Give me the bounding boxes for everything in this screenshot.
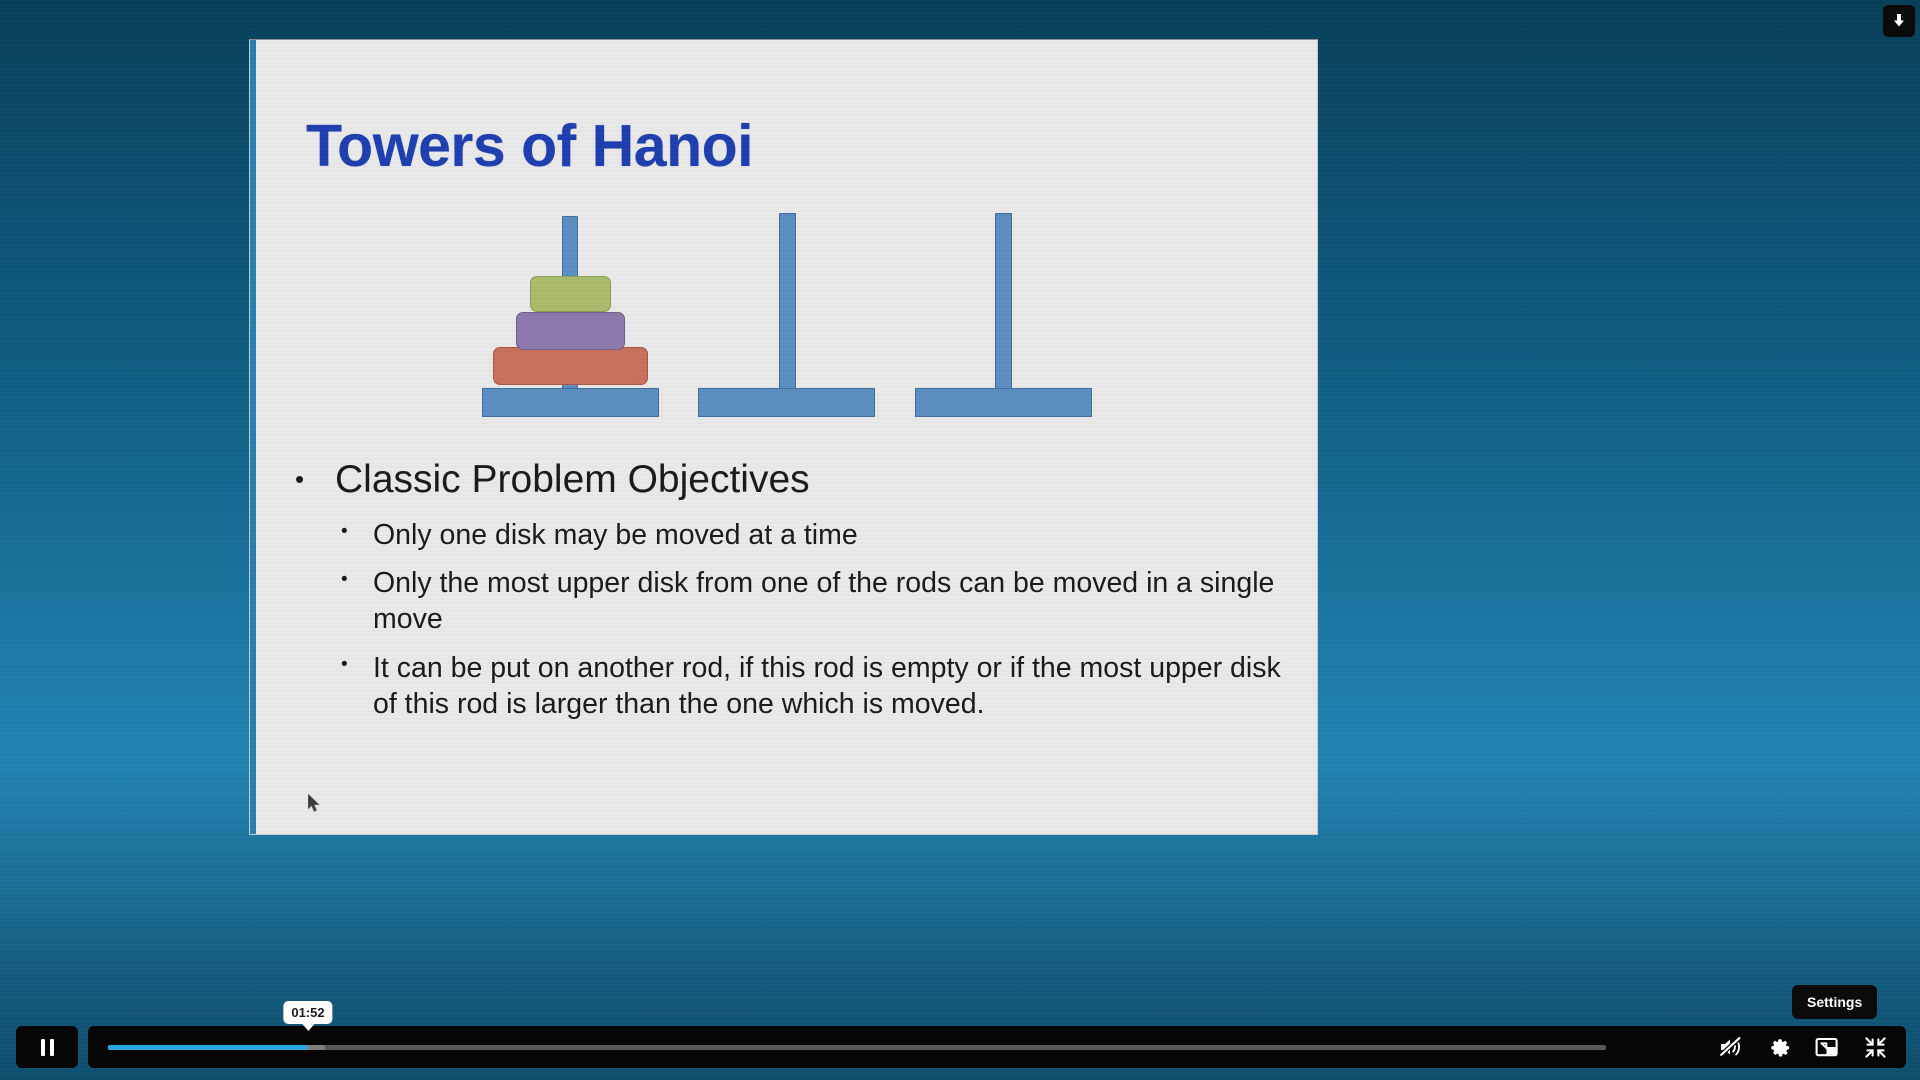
- progress-played: [108, 1045, 307, 1050]
- bullet-sub-3-text: It can be put on another rod, if this ro…: [373, 650, 1305, 722]
- bullet-sub-1: • Only one disk may be moved at a time: [341, 517, 1305, 553]
- control-bar-panel: 01:52: [88, 1026, 1906, 1068]
- bullet-main: • Classic Problem Objectives: [295, 460, 1305, 501]
- exit-fullscreen-icon[interactable]: [1862, 1034, 1888, 1060]
- bullet-dot-icon: •: [341, 565, 373, 594]
- bullet-main-text: Classic Problem Objectives: [335, 460, 810, 501]
- bullet-dot-icon: •: [295, 460, 335, 499]
- download-arrow-icon: [1890, 12, 1908, 30]
- rod-2-base: [698, 388, 875, 417]
- bullet-sub-3: • It can be put on another rod, if this …: [341, 650, 1305, 722]
- time-tooltip: 01:52: [283, 1001, 332, 1024]
- control-icon-group: [1718, 1026, 1888, 1068]
- bullet-dot-icon: •: [341, 650, 373, 679]
- towers-of-hanoi-diagram: [250, 208, 1318, 468]
- rod-2-peg: [779, 213, 796, 413]
- bullet-dot-icon: •: [341, 517, 373, 546]
- pause-button[interactable]: [16, 1026, 78, 1068]
- video-player-fullscreen: Towers of Hanoi • Classic Problem Object…: [0, 0, 1920, 1080]
- mute-icon[interactable]: [1718, 1034, 1744, 1060]
- settings-icon[interactable]: [1766, 1034, 1792, 1060]
- disk-small: [530, 276, 611, 312]
- disk-medium: [516, 312, 625, 350]
- rod-3-base: [915, 388, 1092, 417]
- rod-1-base: [482, 388, 659, 417]
- presentation-slide: Towers of Hanoi • Classic Problem Object…: [249, 39, 1318, 835]
- mouse-cursor: [308, 794, 322, 814]
- slide-body: • Classic Problem Objectives • Only one …: [295, 460, 1305, 734]
- rod-3-peg: [995, 213, 1012, 413]
- bullet-sub-list: • Only one disk may be moved at a time •…: [341, 517, 1305, 722]
- disk-large: [493, 347, 648, 385]
- video-control-bar: 01:52: [0, 1014, 1920, 1080]
- pause-icon: [41, 1039, 54, 1056]
- settings-tooltip: Settings: [1792, 985, 1877, 1019]
- download-button[interactable]: [1883, 5, 1915, 37]
- progress-bar-track[interactable]: 01:52: [108, 1045, 1606, 1050]
- picture-in-picture-icon[interactable]: [1814, 1034, 1840, 1060]
- bullet-sub-1-text: Only one disk may be moved at a time: [373, 517, 1305, 553]
- slide-title: Towers of Hanoi: [306, 112, 753, 180]
- bullet-sub-2-text: Only the most upper disk from one of the…: [373, 565, 1305, 637]
- bullet-sub-2: • Only the most upper disk from one of t…: [341, 565, 1305, 637]
